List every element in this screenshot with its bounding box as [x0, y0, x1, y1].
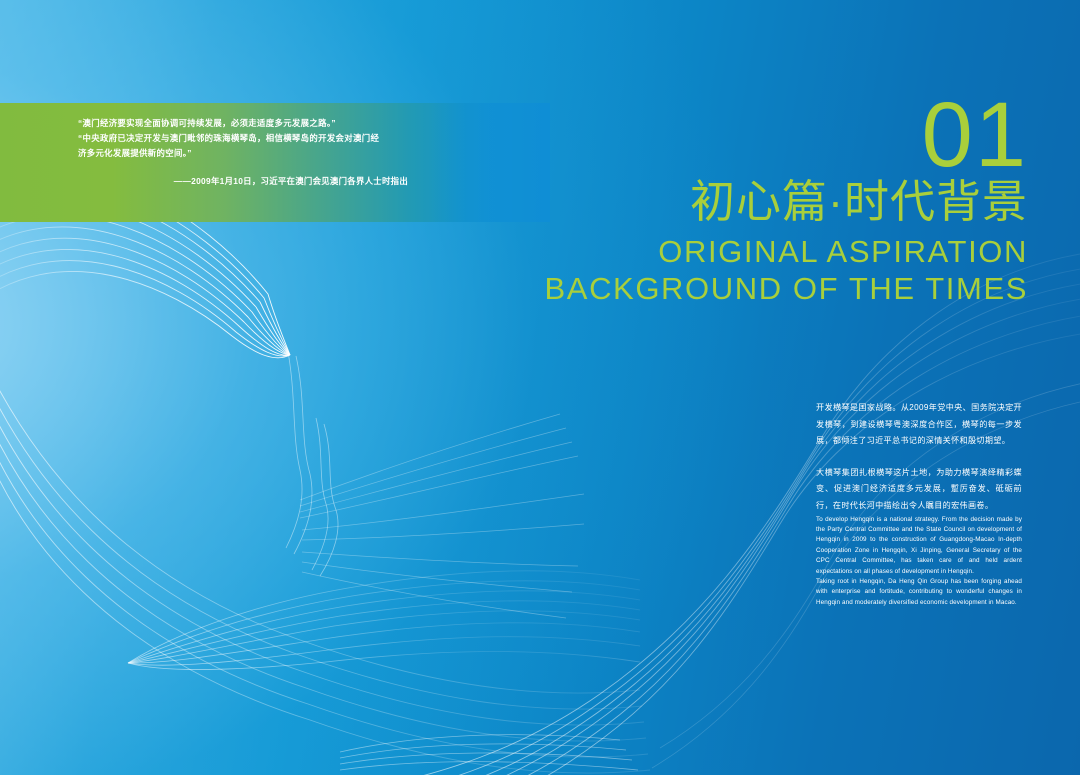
body-copy-block: 开发横琴是国家战略。从2009年党中央、国务院决定开发横琴，到建设横琴粤澳深度合… [816, 400, 1022, 608]
section-title-chinese: 初心篇·时代背景 [508, 176, 1028, 228]
body-paragraph-cn-2: 大横琴集团扎根横琴这片土地，为助力横琴演绎精彩蝶变、促进澳门经济适度多元发展，蹔… [816, 465, 1022, 515]
quote-text-block: “澳门经济要实现全面协调可持续发展，必须走适度多元发展之路。” “中央政府已决定… [78, 116, 408, 162]
section-title-english-line2: BACKGROUND OF THE TIMES [508, 271, 1028, 307]
body-paragraph-en-1: To develop Hengqin is a national strateg… [816, 515, 1022, 577]
quote-line-1: “澳门经济要实现全面协调可持续发展，必须走适度多元发展之路。” [78, 116, 408, 131]
quote-line-3: 济多元化发展提供新的空间。” [78, 146, 408, 161]
body-paragraph-en-2: Taking root in Hengqin, Da Heng Qin Grou… [816, 577, 1022, 608]
quote-attribution: ——2009年1月10日，习近平在澳门会见澳门各界人士时指出 [78, 175, 408, 187]
poster-page: “澳门经济要实现全面协调可持续发展，必须走适度多元发展之路。” “中央政府已决定… [0, 0, 1080, 775]
section-number: 01 [508, 96, 1028, 174]
hero-title-block: 01 初心篇·时代背景 ORIGINAL ASPIRATION BACKGROU… [508, 96, 1028, 307]
quote-line-2: “中央政府已决定开发与澳门毗邻的珠海横琴岛，相信横琴岛的开发会对澳门经 [78, 131, 408, 146]
section-title-english-line1: ORIGINAL ASPIRATION [508, 234, 1028, 270]
body-paragraph-cn-1: 开发横琴是国家战略。从2009年党中央、国务院决定开发横琴，到建设横琴粤澳深度合… [816, 400, 1022, 450]
